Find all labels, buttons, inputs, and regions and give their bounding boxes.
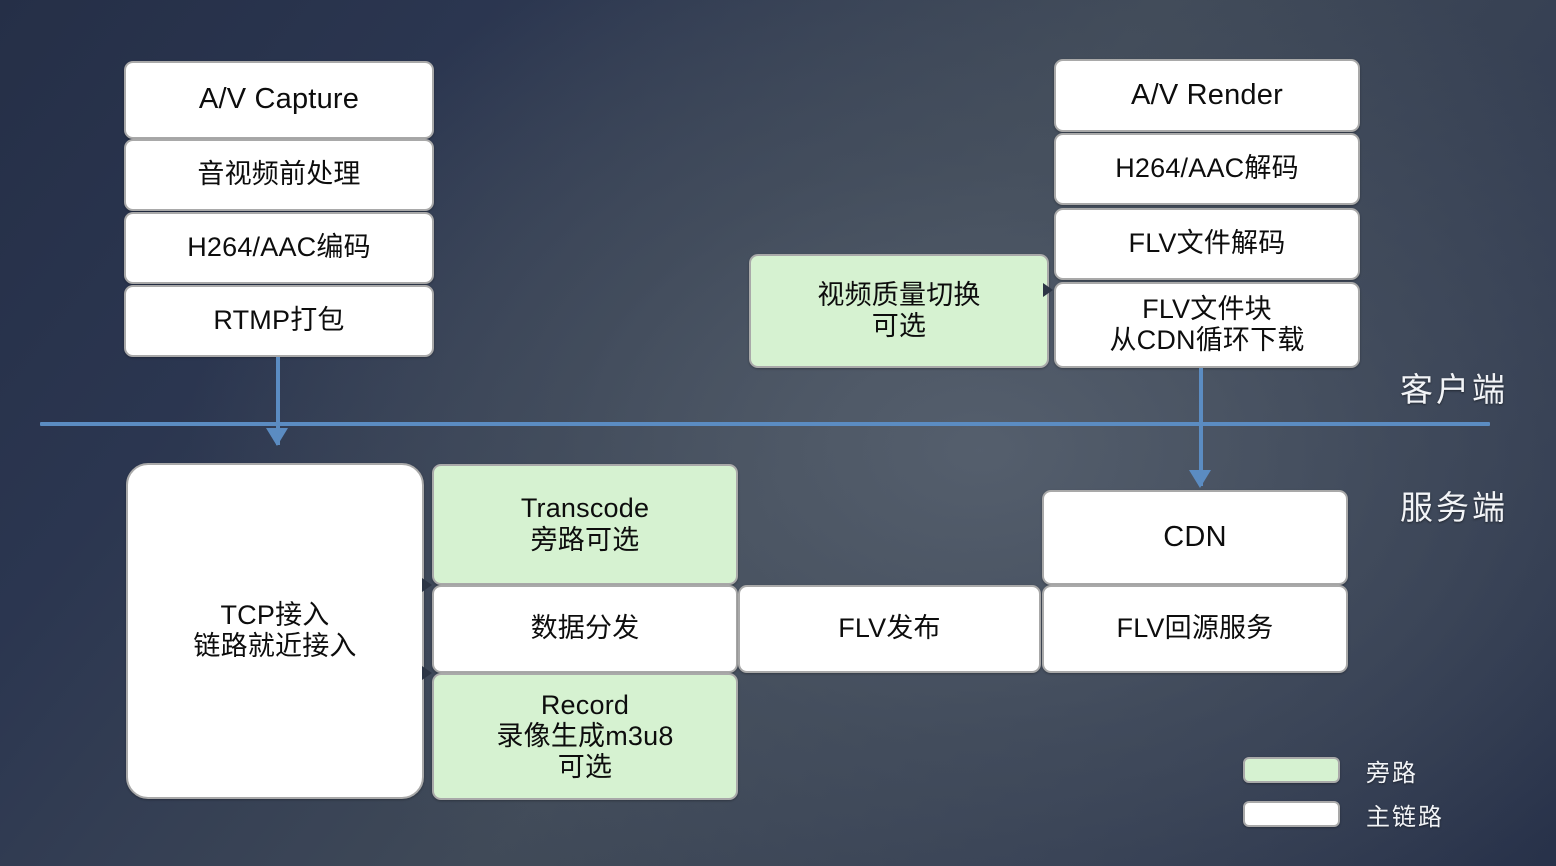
- legend-label-bypass: 旁路: [1366, 753, 1418, 788]
- connector-player-to-cdn: [1199, 368, 1203, 486]
- box-flv-chunk-download[interactable]: FLV文件块 从CDN循环下载: [1054, 282, 1360, 368]
- legend-item-main: 主链路: [1243, 792, 1444, 836]
- box-data-distribution[interactable]: 数据分发: [432, 585, 738, 673]
- connector-ingest-to-record-icon: [422, 666, 432, 680]
- box-video-quality-switch[interactable]: 视频质量切换 可选: [749, 254, 1049, 368]
- diagram-canvas: A/V Capture 音视频前处理 H264/AAC编码 RTMP打包 A/V…: [0, 0, 1556, 866]
- box-flv-publish[interactable]: FLV发布: [738, 585, 1041, 673]
- box-h264-aac-encode[interactable]: H264/AAC编码: [124, 212, 434, 284]
- connector-quality-to-chunk-icon: [1043, 283, 1053, 297]
- box-h264-aac-decode[interactable]: H264/AAC解码: [1054, 133, 1360, 205]
- box-av-render[interactable]: A/V Render: [1054, 59, 1360, 132]
- arrowhead-publisher-down-icon: [266, 428, 288, 446]
- arrowhead-cdn-down-icon: [1189, 470, 1211, 488]
- box-av-preprocess[interactable]: 音视频前处理: [124, 139, 434, 211]
- box-record[interactable]: Record 录像生成m3u8 可选: [432, 673, 738, 800]
- box-flv-origin-service[interactable]: FLV回源服务: [1042, 585, 1348, 673]
- label-server-side: 服务端: [1400, 481, 1508, 529]
- legend-swatch-bypass: [1243, 757, 1340, 783]
- legend-item-bypass: 旁路: [1243, 748, 1444, 792]
- connector-ingest-to-distribution-icon: [422, 578, 432, 592]
- box-rtmp-packetize[interactable]: RTMP打包: [124, 285, 434, 357]
- legend: 旁路 主链路: [1243, 748, 1444, 836]
- box-cdn[interactable]: CDN: [1042, 490, 1348, 585]
- box-flv-file-decode[interactable]: FLV文件解码: [1054, 208, 1360, 280]
- box-tcp-ingest[interactable]: TCP接入 链路就近接入: [126, 463, 424, 799]
- client-server-divider: [40, 422, 1490, 426]
- legend-label-main: 主链路: [1366, 797, 1444, 832]
- label-client-side: 客户端: [1400, 363, 1508, 411]
- box-transcode[interactable]: Transcode 旁路可选: [432, 464, 738, 585]
- box-av-capture[interactable]: A/V Capture: [124, 61, 434, 139]
- legend-swatch-main: [1243, 801, 1340, 827]
